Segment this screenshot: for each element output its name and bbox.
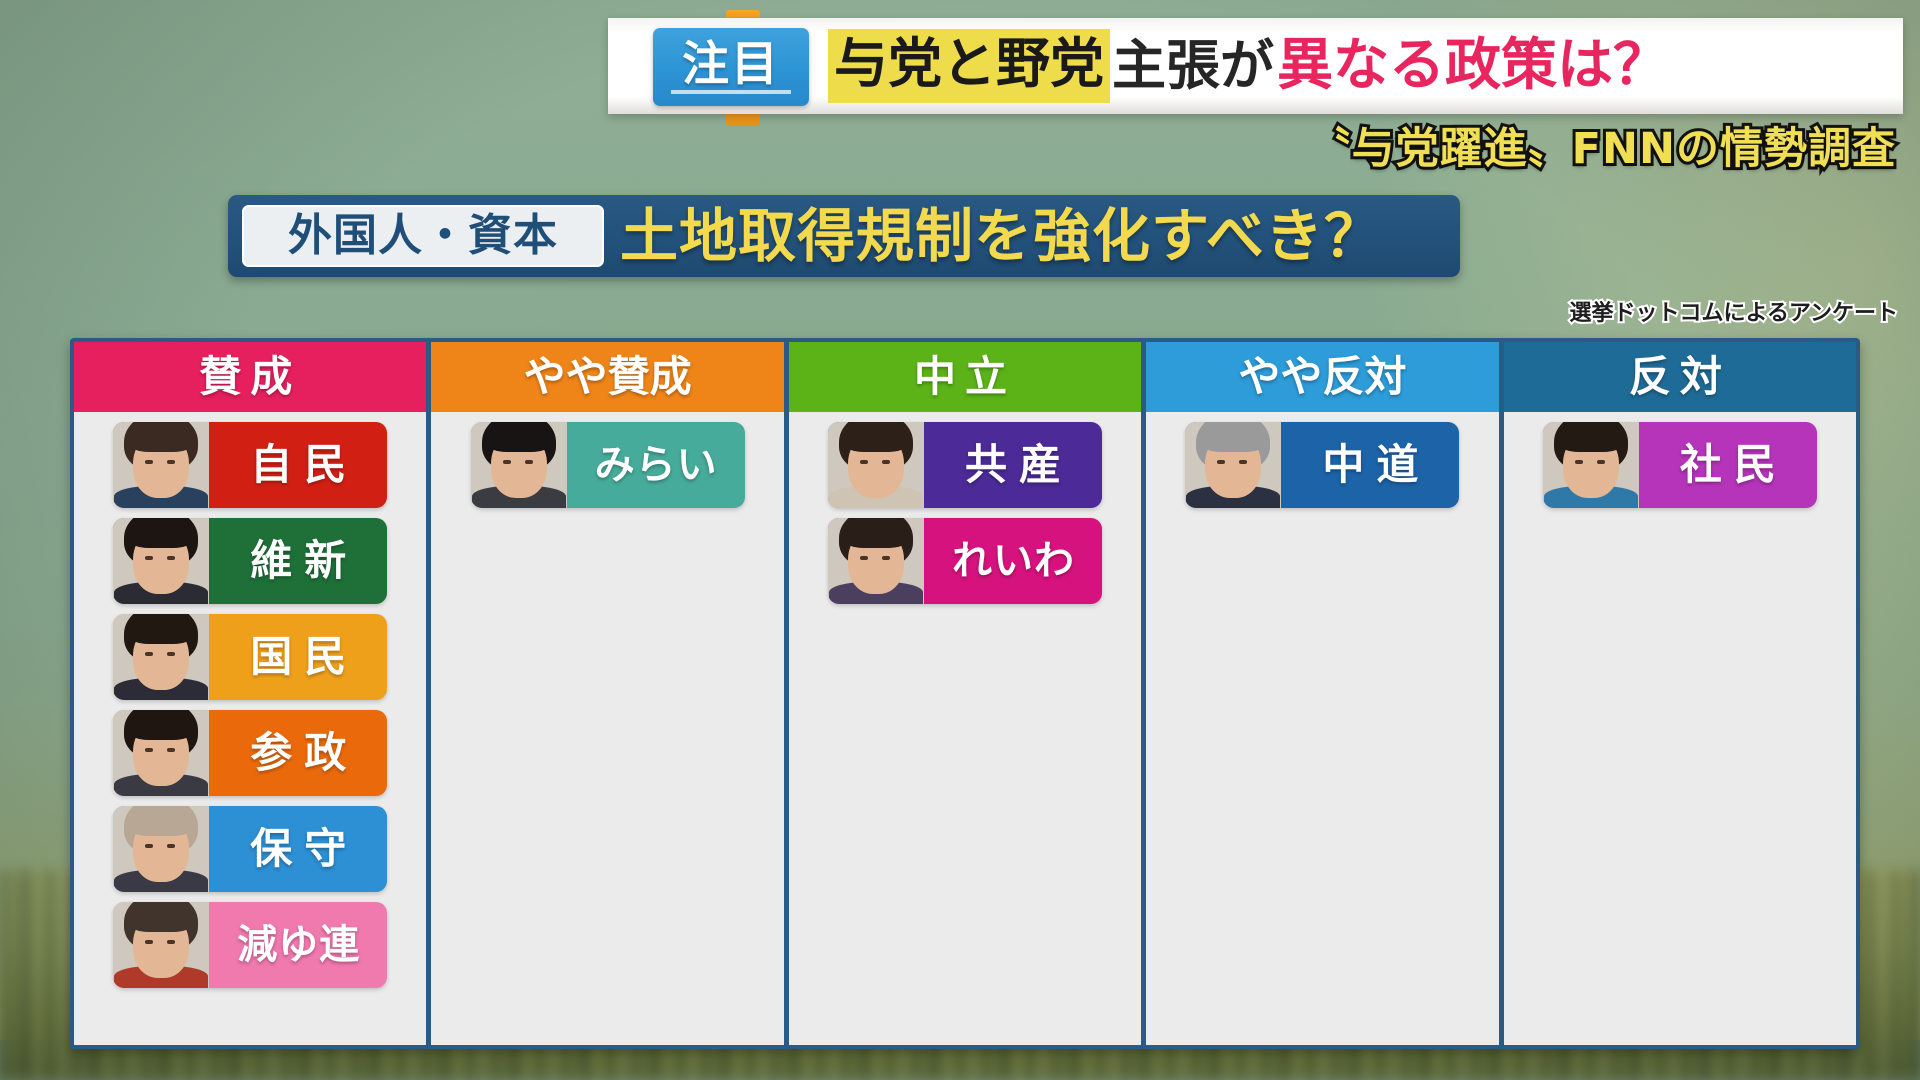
headline-text: 与党と野党 主張が 異なる政策は？ bbox=[828, 24, 1670, 108]
attention-badge-underline bbox=[671, 90, 791, 94]
title-tag-label: 外国人・資本 bbox=[274, 214, 572, 258]
result-column: 反対社民 bbox=[1504, 342, 1856, 1045]
party-name-label: 自民 bbox=[209, 422, 387, 508]
party-chip[interactable]: 自民 bbox=[113, 422, 387, 508]
party-name-label: 共産 bbox=[924, 422, 1102, 508]
result-column: やや賛成みらい bbox=[431, 342, 783, 1045]
column-body: 中道 bbox=[1146, 412, 1498, 1045]
column-body: 社民 bbox=[1504, 412, 1856, 1045]
title-bar: 外国人・資本 土地取得規制を強化すべき？ bbox=[228, 195, 1460, 277]
column-body: 共産れいわ bbox=[789, 412, 1141, 1045]
party-name-label: 保守 bbox=[209, 806, 387, 892]
party-leader-photo bbox=[828, 518, 924, 604]
column-body: 自民維新国民参政保守減ゆ連 bbox=[74, 412, 426, 1045]
attention-badge-label: 注目 bbox=[682, 41, 780, 94]
party-leader-photo bbox=[1543, 422, 1639, 508]
results-table: 賛成自民維新国民参政保守減ゆ連やや賛成みらい中立共産れいわやや反対中道反対社民 bbox=[70, 338, 1860, 1049]
title-tag: 外国人・資本 bbox=[242, 205, 604, 267]
headline-accent: 異なる政策は？ bbox=[1276, 38, 1670, 94]
party-leader-photo bbox=[113, 806, 209, 892]
party-chip[interactable]: れいわ bbox=[828, 518, 1102, 604]
result-column: 賛成自民維新国民参政保守減ゆ連 bbox=[74, 342, 426, 1045]
party-leader-photo bbox=[113, 518, 209, 604]
party-chip[interactable]: 減ゆ連 bbox=[113, 902, 387, 988]
column-header: やや反対 bbox=[1146, 342, 1498, 412]
party-leader-photo bbox=[113, 710, 209, 796]
party-leader-photo bbox=[471, 422, 567, 508]
party-leader-photo bbox=[113, 614, 209, 700]
party-chip[interactable]: 共産 bbox=[828, 422, 1102, 508]
party-chip[interactable]: 参政 bbox=[113, 710, 387, 796]
sub-headline: 〝与党躍進〟FNNの情勢調査 bbox=[1308, 128, 1896, 171]
column-header: やや賛成 bbox=[431, 342, 783, 412]
party-name-label: 中道 bbox=[1281, 422, 1459, 508]
source-credit: 選挙ドットコムによるアンケート bbox=[1570, 303, 1898, 325]
party-chip[interactable]: 維新 bbox=[113, 518, 387, 604]
page-title: 土地取得規制を強化すべき？ bbox=[620, 207, 1383, 265]
party-leader-photo bbox=[828, 422, 924, 508]
party-leader-photo bbox=[1185, 422, 1281, 508]
attention-badge: 注目 bbox=[653, 28, 809, 106]
party-leader-photo bbox=[113, 422, 209, 508]
party-chip[interactable]: 中道 bbox=[1185, 422, 1459, 508]
headline-middle: 主張が bbox=[1110, 39, 1276, 93]
party-name-label: 国民 bbox=[209, 614, 387, 700]
party-name-label: 社民 bbox=[1639, 422, 1817, 508]
party-name-label: みらい bbox=[567, 422, 745, 508]
party-chip[interactable]: みらい bbox=[471, 422, 745, 508]
party-name-label: 減ゆ連 bbox=[209, 902, 387, 988]
column-header: 反対 bbox=[1504, 342, 1856, 412]
party-leader-photo bbox=[113, 902, 209, 988]
headline-highlight: 与党と野党 bbox=[828, 29, 1110, 103]
party-chip[interactable]: 国民 bbox=[113, 614, 387, 700]
party-chip[interactable]: 社民 bbox=[1543, 422, 1817, 508]
party-name-label: れいわ bbox=[924, 518, 1102, 604]
party-name-label: 維新 bbox=[209, 518, 387, 604]
result-column: 中立共産れいわ bbox=[789, 342, 1141, 1045]
column-body: みらい bbox=[431, 412, 783, 1045]
result-column: やや反対中道 bbox=[1146, 342, 1498, 1045]
party-chip[interactable]: 保守 bbox=[113, 806, 387, 892]
column-header: 賛成 bbox=[74, 342, 426, 412]
column-header: 中立 bbox=[789, 342, 1141, 412]
party-name-label: 参政 bbox=[209, 710, 387, 796]
